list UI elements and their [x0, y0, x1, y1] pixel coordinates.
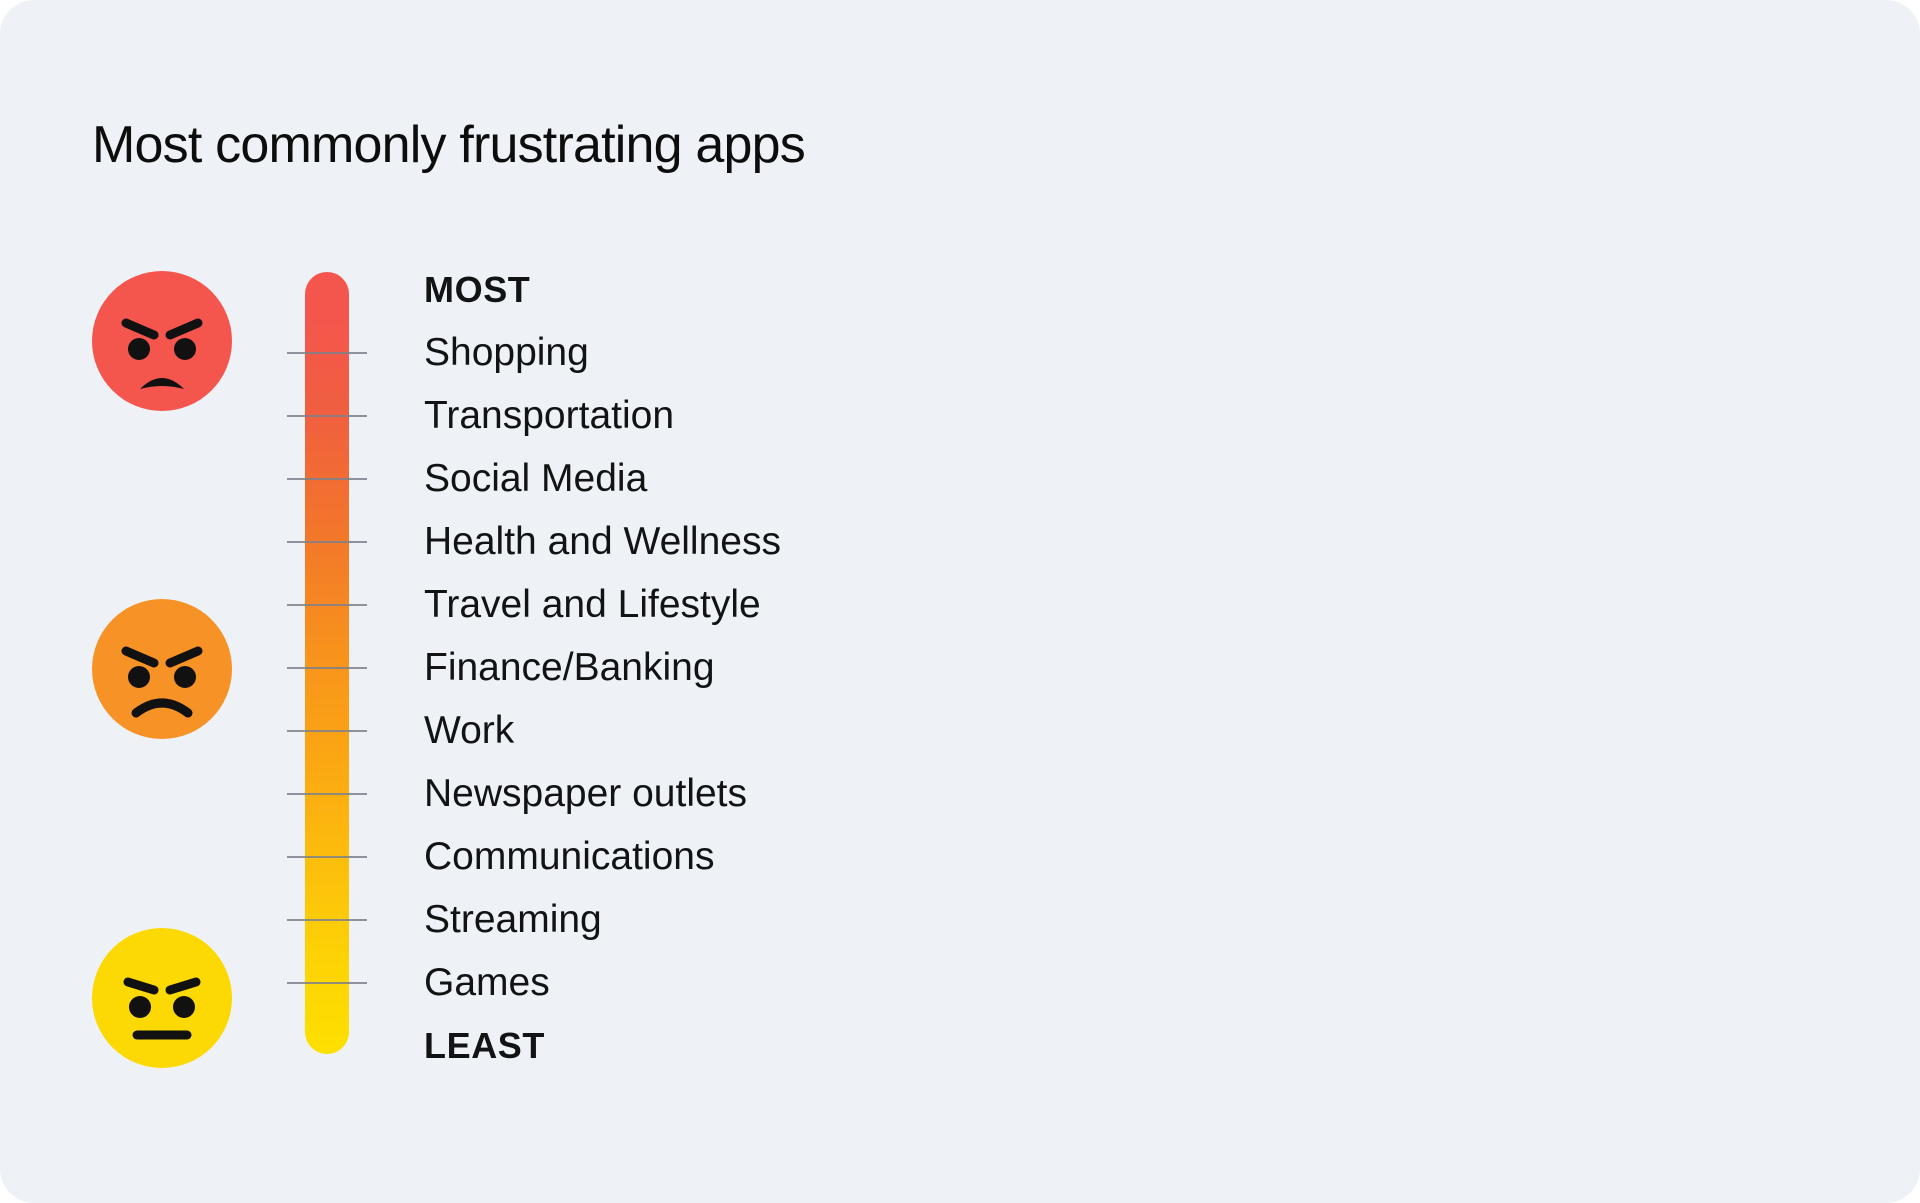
list-item: Streaming: [424, 888, 1524, 951]
list-item: Social Media: [424, 447, 1524, 510]
annoyed-yellow-face-icon: [92, 928, 232, 1068]
tick-mark: [287, 856, 367, 858]
list-item: Shopping: [424, 321, 1524, 384]
scale-endpoint-label: LEAST: [424, 1014, 1524, 1077]
infographic-card: Most commonly frustrating apps: [0, 0, 1920, 1203]
tick-mark: [287, 415, 367, 417]
tick-mark: [287, 541, 367, 543]
angry-red-face-icon: [92, 271, 232, 411]
tick-mark: [287, 352, 367, 354]
list-item: Finance/Banking: [424, 636, 1524, 699]
frustration-gradient-bar: [305, 272, 349, 1054]
angry-orange-face-icon: [92, 599, 232, 739]
list-item: Communications: [424, 825, 1524, 888]
tick-mark: [287, 730, 367, 732]
list-item: Work: [424, 699, 1524, 762]
page-title: Most commonly frustrating apps: [92, 119, 805, 171]
list-item: Travel and Lifestyle: [424, 573, 1524, 636]
tick-mark: [287, 667, 367, 669]
tick-mark: [287, 919, 367, 921]
scale-endpoint-label: MOST: [424, 258, 1524, 321]
tick-mark: [287, 793, 367, 795]
list-item: Transportation: [424, 384, 1524, 447]
tick-mark: [287, 604, 367, 606]
tick-mark: [287, 478, 367, 480]
tick-mark: [287, 982, 367, 984]
list-item: Health and Wellness: [424, 510, 1524, 573]
list-item: Newspaper outlets: [424, 762, 1524, 825]
list-item: Games: [424, 951, 1524, 1014]
app-ranking-list: MOSTShoppingTransportationSocial MediaHe…: [424, 258, 1524, 1077]
